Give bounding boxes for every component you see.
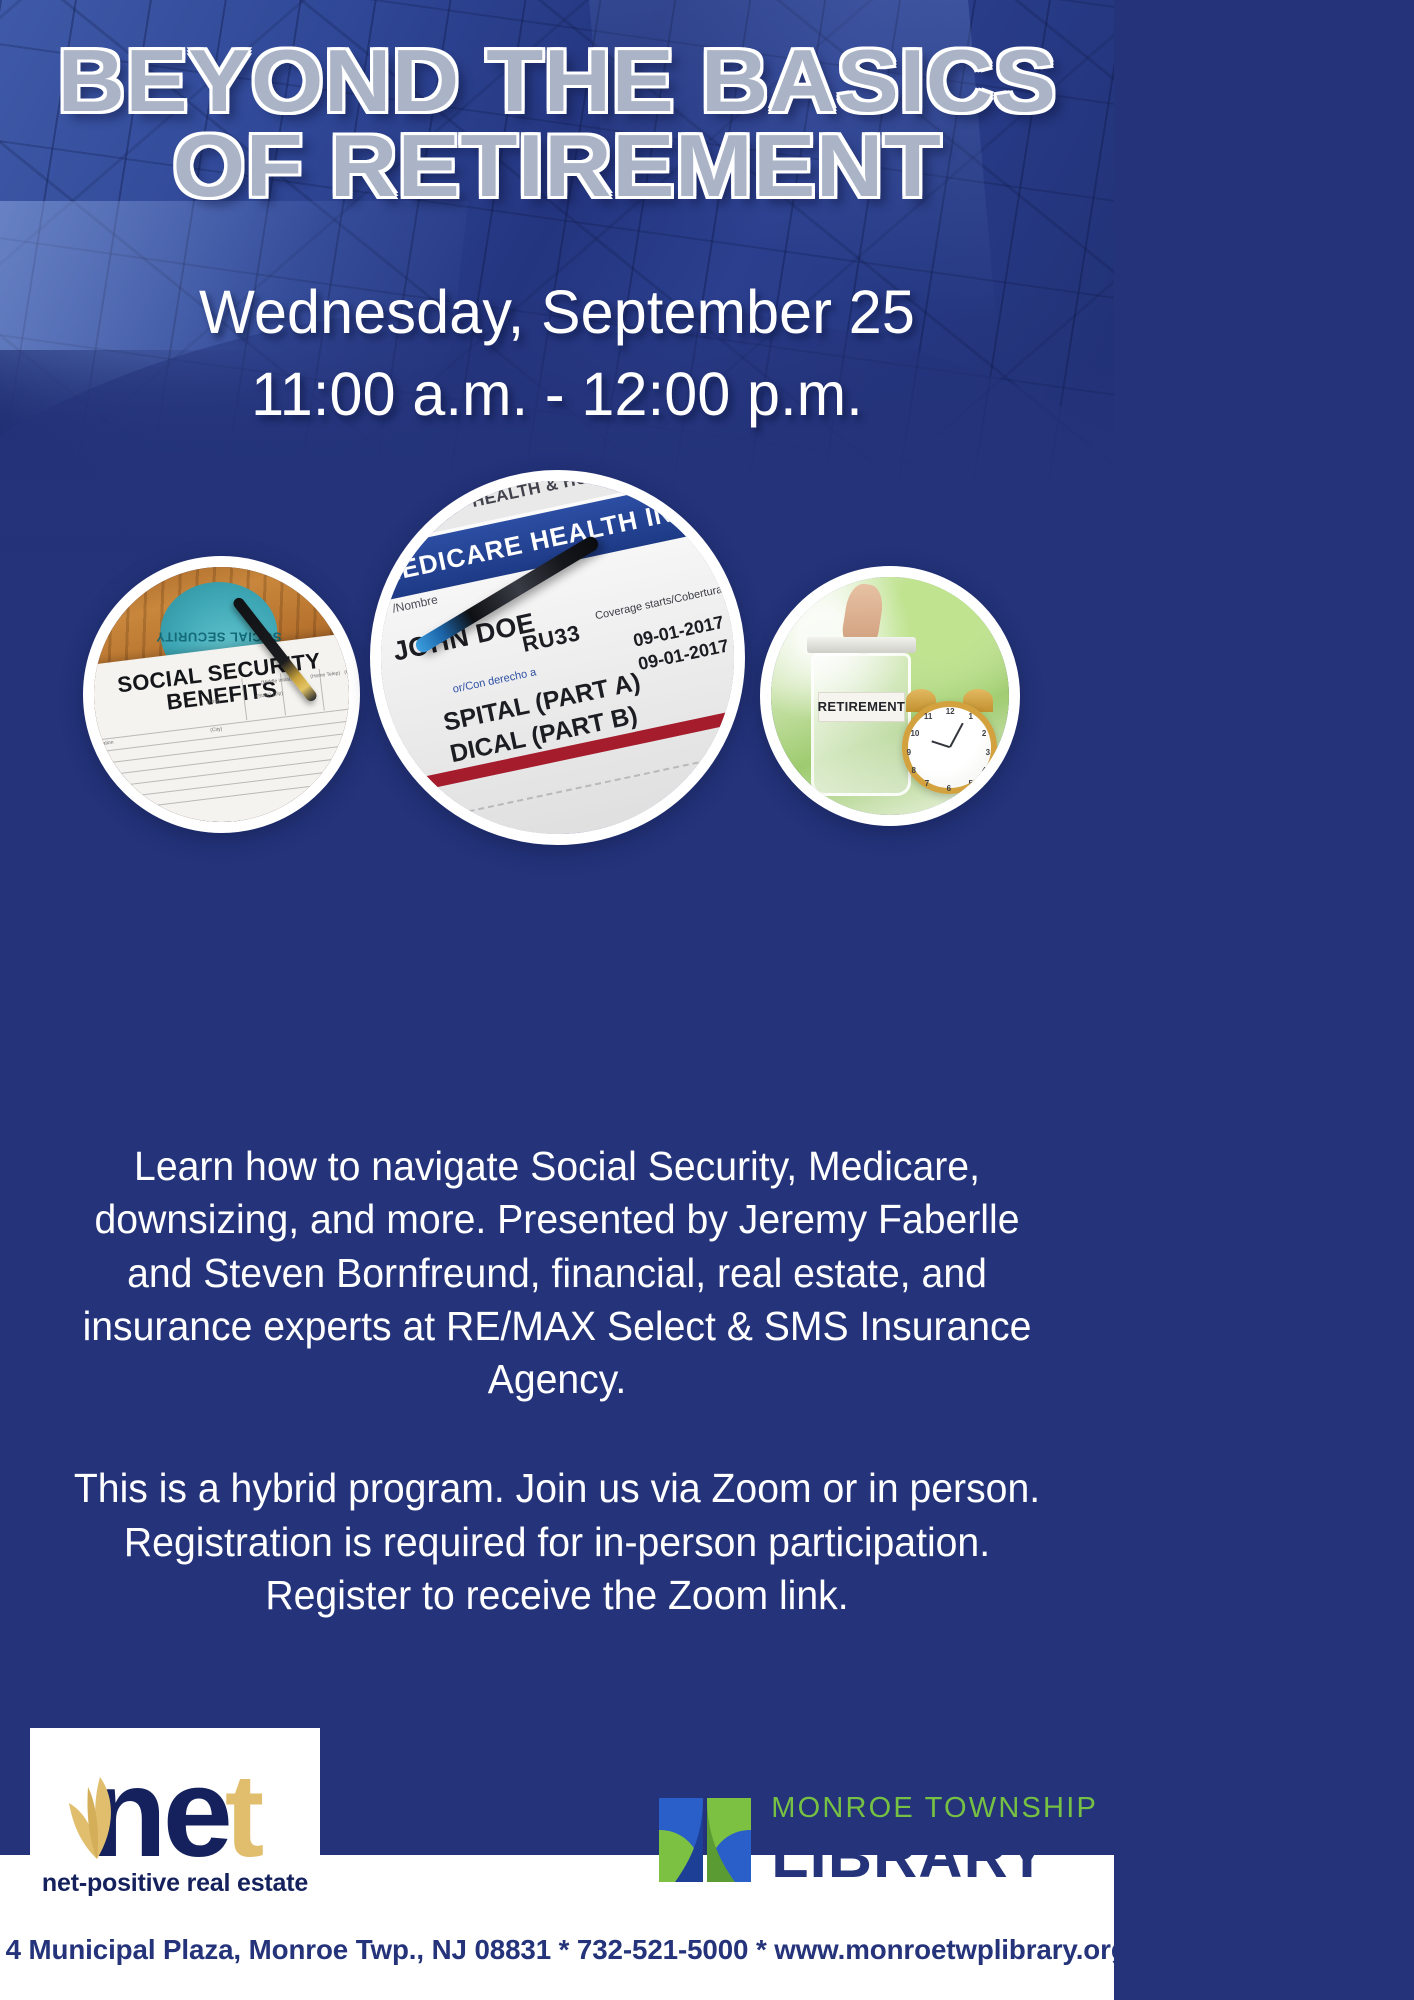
- medicare-card-photo-circle: HEALTH & HUMAN S MEDICARE HEALTH INSURA …: [370, 470, 745, 845]
- library-name-bottom: LIBRARY: [771, 1826, 1098, 1887]
- jar-lid: [807, 637, 916, 654]
- social-security-form-paper: SOCIAL SECURITY BENEFITS nformation l Ad…: [83, 630, 360, 833]
- net-wordmark: n e t: [40, 1751, 310, 1863]
- form-label-test-passed: CED) Test Passed? Yes No: [172, 822, 233, 833]
- library-wordmark: MONROE TOWNSHIP LIBRARY: [771, 1794, 1098, 1887]
- poster-canvas: BEYOND THE BASICS OF RETIREMENT Wednesda…: [0, 0, 1114, 2000]
- monroe-township-library-logo: MONROE TOWNSHIP LIBRARY: [655, 1790, 1098, 1890]
- description-paragraph-2: This is a hybrid program. Join us via Zo…: [58, 1462, 1057, 1622]
- description-paragraph-1: Learn how to navigate Social Security, M…: [58, 1140, 1057, 1406]
- form-label-first: (First): [206, 698, 220, 706]
- retirement-jar-photo-circle: RETIREMENT 12 1 2 3 4 5 6 7 8 9 10: [760, 566, 1020, 826]
- form-rule-lines: [86, 708, 360, 833]
- library-name-top: MONROE TOWNSHIP: [771, 1794, 1098, 1823]
- net-letter-t-cross: t: [225, 1770, 260, 1862]
- net-letter-n: n: [90, 1764, 163, 1862]
- poster-description: Learn how to navigate Social Security, M…: [0, 1140, 1114, 1622]
- net-positive-real-estate-logo: n e t net-positive real estate: [30, 1728, 320, 1918]
- photo-circle-group: SOCIAL SECURITY SOCIAL SECURITY BENEFITS…: [0, 0, 1114, 1100]
- jar-label: RETIREMENT: [818, 692, 904, 722]
- form-label-city: (City): [210, 726, 223, 733]
- clock-numerals: 12 1 2 3 4 5 6 7 8 9 10 11: [902, 701, 997, 793]
- net-letter-e: e: [163, 1764, 229, 1862]
- savings-jar: RETIREMENT: [811, 653, 911, 796]
- social-security-photo-circle: SOCIAL SECURITY SOCIAL SECURITY BENEFITS…: [83, 556, 360, 833]
- open-book-leaf-icon: [655, 1790, 755, 1890]
- alarm-clock: 12 1 2 3 4 5 6 7 8 9 10 11: [902, 689, 997, 794]
- paragraph-spacer: [34, 1406, 1080, 1462]
- library-address-line: 4 Municipal Plaza, Monroe Twp., NJ 08831…: [6, 1934, 1109, 1966]
